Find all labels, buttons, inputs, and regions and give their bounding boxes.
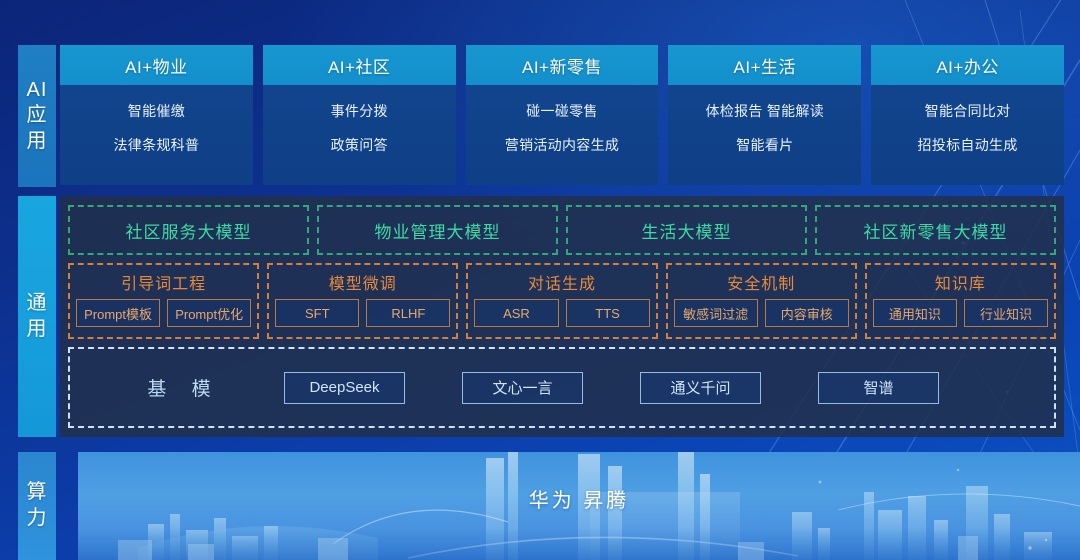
rail-ai-char-2: 应 (27, 103, 48, 129)
capability-title: 模型微调 (329, 270, 397, 294)
base-model-row: 基 模 DeepSeek 文心一言 通义千问 智谱 (68, 347, 1056, 428)
base-model-chips: DeepSeek 文心一言 通义千问 智谱 (284, 372, 1040, 404)
app-card-property[interactable]: AI+物业 智能催缴 法律条规科普 (60, 45, 253, 185)
big-model-property-management[interactable]: 物业管理大模型 (317, 205, 558, 255)
app-feature: 碰一碰零售 (526, 101, 598, 121)
app-card-title: AI+新零售 (466, 45, 659, 85)
capability-chip[interactable]: Prompt模板 (76, 299, 160, 327)
computing-power-title: 华为 昇腾 (78, 484, 1080, 513)
computing-power-panel: 华为 昇腾 (78, 452, 1080, 560)
base-model-deepseek[interactable]: DeepSeek (284, 372, 405, 404)
capability-chips: 通用知识 行业知识 (873, 299, 1048, 327)
app-feature: 招投标自动生成 (918, 135, 1018, 155)
base-model-tongyi[interactable]: 通义千问 (640, 372, 761, 404)
base-model-wenxin[interactable]: 文心一言 (462, 372, 583, 404)
app-feature: 营销活动内容生成 (505, 135, 619, 155)
base-model-label: 基 模 (84, 374, 284, 401)
slide-root: AI 应 用 通 用 算 力 AI+物业 智能催缴 法律条规科普 AI+社区 事… (0, 0, 1080, 560)
capability-chip[interactable]: ASR (474, 299, 558, 327)
rail-computing-power: 算 力 (18, 452, 56, 560)
rail-general-char-1: 通 (27, 291, 48, 317)
big-model-community-new-retail[interactable]: 社区新零售大模型 (815, 205, 1056, 255)
rail-ai-application: AI 应 用 (18, 45, 56, 187)
app-feature: 智能看片 (736, 135, 793, 155)
app-feature: 智能合同比对 (925, 101, 1011, 121)
app-feature: 事件分拨 (331, 101, 388, 121)
app-feature: 法律条规科普 (113, 135, 199, 155)
app-feature: 政策问答 (331, 135, 388, 155)
rail-ai-char-3: 用 (27, 129, 48, 155)
rail-general-char-2: 用 (27, 317, 48, 343)
capability-chip[interactable]: RLHF (366, 299, 450, 327)
capability-chip[interactable]: SFT (275, 299, 359, 327)
app-card-life[interactable]: AI+生活 体检报告 智能解读 智能看片 (668, 45, 861, 185)
capability-chip[interactable]: 内容审核 (765, 299, 849, 327)
capability-chips: 敏感词过滤 内容审核 (674, 299, 849, 327)
capability-model-finetuning[interactable]: 模型微调 SFT RLHF (267, 263, 458, 339)
capability-dialog-generation[interactable]: 对话生成 ASR TTS (466, 263, 657, 339)
big-model-life[interactable]: 生活大模型 (566, 205, 807, 255)
capability-chips: ASR TTS (474, 299, 649, 327)
rail-ai-char-1: AI (27, 78, 48, 104)
capability-chip[interactable]: TTS (566, 299, 650, 327)
capability-security-mechanism[interactable]: 安全机制 敏感词过滤 内容审核 (666, 263, 857, 339)
app-card-title: AI+生活 (668, 45, 861, 85)
capability-title: 引导词工程 (121, 270, 206, 294)
big-model-row: 社区服务大模型 物业管理大模型 生活大模型 社区新零售大模型 (68, 205, 1056, 255)
app-feature: 体检报告 智能解读 (705, 101, 824, 121)
app-card-body: 碰一碰零售 营销活动内容生成 (466, 85, 659, 185)
capability-title: 知识库 (935, 270, 986, 294)
capability-chips: Prompt模板 Prompt优化 (76, 299, 251, 327)
capability-chip[interactable]: 行业知识 (964, 299, 1048, 327)
capability-row: 引导词工程 Prompt模板 Prompt优化 模型微调 SFT RLHF 对话… (68, 263, 1056, 339)
app-card-body: 事件分拨 政策问答 (263, 85, 456, 185)
rail-power-char-1: 算 (27, 480, 48, 506)
app-card-title: AI+物业 (60, 45, 253, 85)
app-card-body: 体检报告 智能解读 智能看片 (668, 85, 861, 185)
general-layer-panel: 社区服务大模型 物业管理大模型 生活大模型 社区新零售大模型 引导词工程 Pro… (60, 196, 1064, 437)
rail-general: 通 用 (18, 196, 56, 437)
ai-application-cards: AI+物业 智能催缴 法律条规科普 AI+社区 事件分拨 政策问答 AI+新零售… (60, 45, 1064, 185)
capability-title: 对话生成 (528, 270, 596, 294)
capability-chips: SFT RLHF (275, 299, 450, 327)
capability-knowledge-base[interactable]: 知识库 通用知识 行业知识 (865, 263, 1056, 339)
capability-prompt-engineering[interactable]: 引导词工程 Prompt模板 Prompt优化 (68, 263, 259, 339)
capability-chip[interactable]: 敏感词过滤 (674, 299, 758, 327)
big-model-community-service[interactable]: 社区服务大模型 (68, 205, 309, 255)
app-card-title: AI+社区 (263, 45, 456, 85)
capability-chip[interactable]: 通用知识 (873, 299, 957, 327)
app-card-new-retail[interactable]: AI+新零售 碰一碰零售 营销活动内容生成 (466, 45, 659, 185)
app-card-body: 智能催缴 法律条规科普 (60, 85, 253, 185)
capability-chip[interactable]: Prompt优化 (167, 299, 251, 327)
app-feature: 智能催缴 (128, 101, 185, 121)
base-model-zhipu[interactable]: 智谱 (818, 372, 939, 404)
app-card-title: AI+办公 (871, 45, 1064, 85)
app-card-office[interactable]: AI+办公 智能合同比对 招投标自动生成 (871, 45, 1064, 185)
app-card-body: 智能合同比对 招投标自动生成 (871, 85, 1064, 185)
rail-power-char-2: 力 (27, 506, 48, 532)
app-card-community[interactable]: AI+社区 事件分拨 政策问答 (263, 45, 456, 185)
capability-title: 安全机制 (727, 270, 795, 294)
